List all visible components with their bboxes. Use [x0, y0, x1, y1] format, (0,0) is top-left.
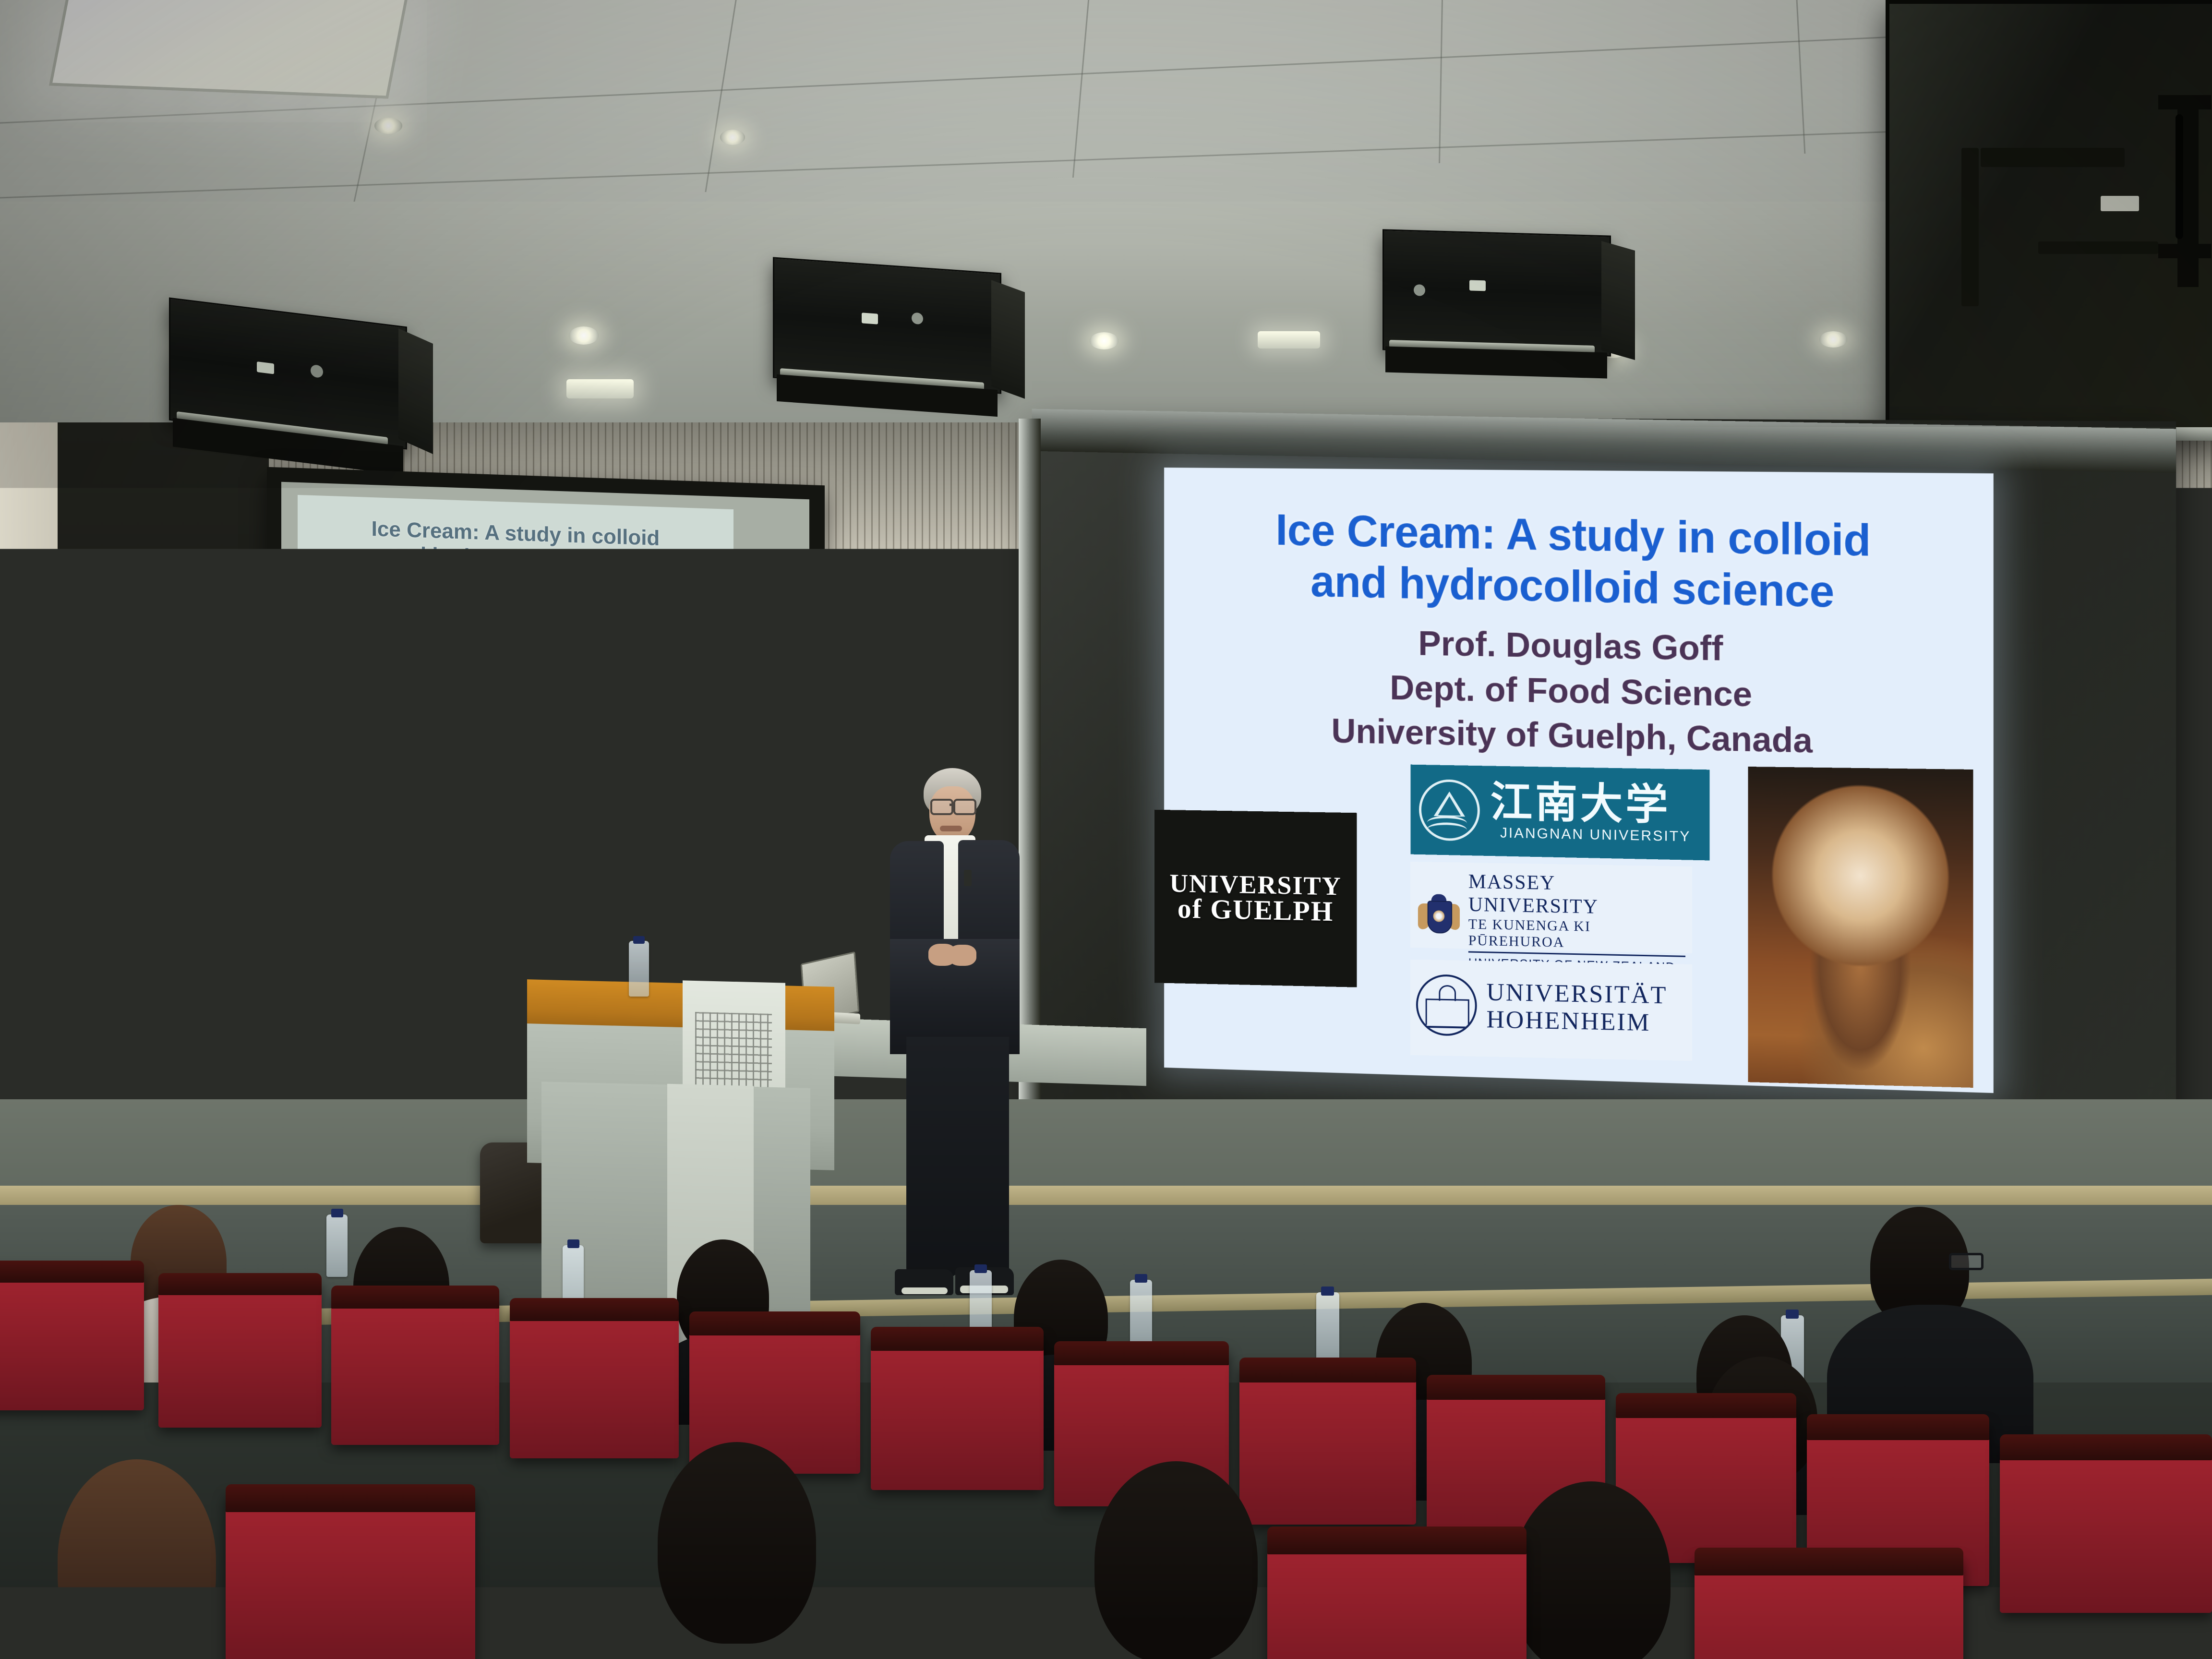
wall-mounted-tv	[1886, 0, 2212, 440]
seat	[0, 1266, 144, 1410]
seat-front	[226, 1492, 475, 1659]
water-bottle	[326, 1214, 348, 1277]
secondary-slide-author: Prof. Douglas Goff Dept. of Food Science…	[298, 596, 733, 678]
seat-headrail	[510, 1298, 679, 1321]
seat-headrail	[1239, 1358, 1416, 1382]
seat-headrail	[816, 1504, 1075, 1532]
bottle-cap	[331, 1209, 343, 1217]
bottle-cap	[567, 1239, 579, 1248]
seat-headrail	[1054, 1341, 1229, 1365]
guelph-logo-block: UNIVERSITY of GUELPH	[1154, 810, 1357, 987]
podium-control-panel[interactable]	[691, 947, 741, 980]
secondary-hohenheim-logo	[459, 814, 588, 857]
water-bottle	[629, 941, 649, 997]
massey-university-logo: MASSEY UNIVERSITY TE KUNENGA KI PŪREHURO…	[1410, 862, 1692, 953]
massey-crest-icon	[1417, 892, 1461, 947]
bottle-cap	[974, 1264, 987, 1273]
seat-headrail	[158, 1273, 322, 1295]
shoe-sole-left	[902, 1287, 948, 1294]
downlight-icon	[1819, 331, 1847, 348]
seat-headrail	[1616, 1393, 1796, 1418]
secondary-jiangnan-logo	[464, 700, 581, 765]
ceiling-speaker-side	[991, 280, 1025, 398]
hohenheim-university-logo: UNIVERSITÄT HOHENHEIM	[1410, 960, 1692, 1061]
seat	[158, 1279, 322, 1428]
ceiling-speaker	[1382, 229, 1611, 356]
bottle-cap	[1321, 1286, 1334, 1296]
wooden-chair-back	[91, 941, 250, 958]
ceiling-light-panel	[49, 0, 408, 99]
seat-headrail	[1267, 1527, 1527, 1554]
ceiling-speaker-side	[1601, 241, 1635, 360]
chair-slat	[171, 959, 178, 1019]
presenter-leg-left	[906, 1037, 958, 1277]
ceiling-speaker-side	[398, 328, 433, 454]
lecture-hall-photo: Ice Cream: A study in colloid and hydroc…	[0, 0, 2212, 1659]
presenter-hand-right	[949, 945, 976, 966]
eyeglasses-left-lens	[930, 799, 953, 815]
seat-headrail	[0, 1261, 144, 1283]
downlight-icon	[1090, 332, 1118, 349]
bottle-cap	[633, 936, 645, 944]
chair-slat	[200, 959, 206, 1019]
secondary-sundae-photo	[607, 698, 718, 860]
stair-post	[49, 792, 58, 955]
presenter-leg-right	[955, 1037, 1009, 1277]
audience-head-front	[658, 1442, 816, 1644]
seat-headrail	[1807, 1414, 1989, 1440]
stair-post	[109, 758, 118, 950]
water-bottle	[1130, 1280, 1152, 1348]
bottle-cap	[1135, 1274, 1147, 1283]
audience-head-front	[1094, 1461, 1258, 1659]
seat	[510, 1304, 679, 1458]
bottle-cap	[1786, 1310, 1799, 1319]
seat	[331, 1291, 499, 1445]
seat-headrail	[226, 1484, 475, 1512]
lapel-microphone	[964, 870, 972, 886]
wooden-chair-backrest	[98, 958, 242, 1021]
downlight-icon	[374, 118, 402, 134]
eyeglasses-right-lens	[953, 799, 976, 815]
seat	[1239, 1363, 1416, 1525]
presenter	[878, 768, 1022, 1310]
ceiling-strip-light	[566, 379, 634, 398]
seat	[2000, 1440, 2212, 1613]
hohenheim-building-icon	[1416, 974, 1477, 1036]
seat-headrail	[331, 1286, 499, 1309]
seat	[871, 1333, 1044, 1490]
seat-headrail	[871, 1327, 1044, 1351]
eyeglasses-bridge	[950, 804, 954, 806]
jiangnan-university-logo: 江南大学 JIANGNAN UNIVERSITY	[1410, 765, 1709, 861]
chair-slat	[142, 959, 149, 1019]
presenter-mouth	[940, 826, 962, 831]
seat-headrail	[1427, 1375, 1605, 1400]
water-bottle	[1316, 1292, 1339, 1363]
sundae-photo	[1748, 767, 1973, 1088]
wooden-chair-seat	[89, 1018, 254, 1038]
slide-author-block: Prof. Douglas Goff Dept. of Food Science…	[1178, 618, 1974, 768]
jiangnan-seal-icon	[1419, 779, 1480, 842]
eyeglasses	[1949, 1253, 1984, 1270]
seat-front	[816, 1512, 1075, 1659]
tv-cable	[2176, 114, 2183, 239]
secondary-guelph-block: UNIVERSITY of GUELPH	[336, 760, 446, 858]
downlight-icon	[569, 326, 599, 345]
slide-title: Ice Cream: A study in colloid and hydroc…	[1178, 503, 1974, 621]
seat-headrail	[2000, 1434, 2212, 1460]
chair-slat	[113, 959, 120, 1019]
ceiling-strip-light	[1258, 331, 1320, 349]
secondary-massey-logo	[459, 768, 588, 812]
downlight-icon	[720, 130, 745, 145]
seat-headrail	[1695, 1548, 1963, 1575]
seat-headrail	[689, 1311, 860, 1335]
